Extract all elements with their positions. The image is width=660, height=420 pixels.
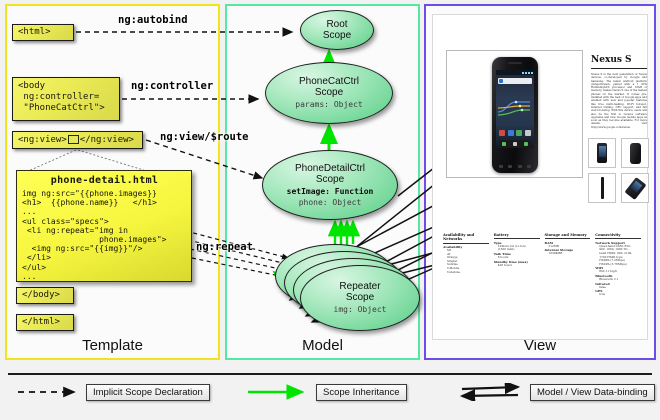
scope-catctrl-property: params: Object — [295, 100, 362, 110]
edge-label-view-route: ng:view/$route — [160, 131, 249, 143]
code-box-body-close[interactable]: </body> — [16, 287, 74, 304]
diagram-canvas: Template Model View — [0, 0, 660, 420]
scope-root-title-line2: Scope — [323, 30, 351, 41]
phone-thumbnail-4[interactable] — [621, 173, 649, 203]
scope-repeater-title-line1: Repeater — [339, 281, 380, 292]
scope-node-repeater[interactable]: Repeater Scope img: Object — [300, 265, 420, 331]
spec-column-availability: Availability and Networks Availability M… — [443, 233, 489, 297]
view-slot-icon — [68, 135, 79, 144]
scope-repeater-title-line2: Scope — [346, 292, 374, 303]
code-box-html-open[interactable]: <html> — [12, 24, 74, 41]
scope-detailctrl-property-phone: phone: Object — [299, 198, 362, 208]
legend-divider — [8, 373, 652, 375]
edge-label-repeat: ng:repeat — [196, 241, 253, 253]
scope-repeater-property: img: Object — [334, 305, 387, 315]
scope-node-phonedetailctrl[interactable]: PhoneDetailCtrl Scope setImage: Function… — [262, 150, 398, 220]
phone-hardware-buttons — [496, 163, 534, 169]
code-box-html-close[interactable]: </html> — [16, 314, 74, 331]
phone-screen — [496, 70, 534, 148]
note-code: img ng:src="{{phone.images}} <h1> {{phon… — [22, 189, 187, 281]
scope-detailctrl-property-setimage: setImage: Function — [287, 187, 374, 197]
phone-dock — [496, 128, 534, 148]
phone-hero-image-frame[interactable] — [446, 50, 583, 178]
phone-speaker-icon — [508, 62, 522, 64]
phone-search-widget — [498, 78, 532, 84]
column-model-label: Model — [227, 337, 418, 354]
edge-label-controller: ng:controller — [131, 80, 213, 92]
spec-val-availability-6: Vodafone — [443, 271, 489, 275]
phone-thumbnail-1[interactable] — [588, 138, 616, 168]
spec-val-storage-internal: 16384MB — [545, 252, 591, 256]
spec-column-connectivity: Connectivity Network Support Quad-band G… — [595, 233, 641, 297]
sticky-note-phone-detail[interactable]: phone-detail.html img ng:src="{{phone.im… — [16, 170, 192, 282]
ngview-close-tag: </ng:view> — [80, 135, 134, 145]
legend-label-implicit-scope: Implicit Scope Declaration — [86, 384, 210, 401]
thumbnail-phone-front — [597, 143, 607, 163]
product-title: Nexus S — [591, 55, 632, 65]
ngview-open-tag: <ng:view> — [18, 135, 67, 145]
legend-label-scope-inheritance: Scope Inheritance — [316, 384, 407, 401]
specs-table: Availability and Networks Availability M… — [443, 233, 641, 297]
spec-column-storage: Storage and Memory RAM 512MB Internal St… — [545, 233, 591, 297]
spec-column-battery: Battery Type Lithium Ion (Li-Ion) (1500 … — [494, 233, 540, 297]
double-arrow-icon — [460, 383, 524, 401]
note-title: phone-detail.html — [22, 175, 187, 186]
legend: Implicit Scope Declaration Scope Inherit… — [8, 383, 652, 409]
green-arrow-icon — [246, 383, 310, 401]
scope-node-phonecatctrl[interactable]: PhoneCatCtrl Scope params: Object — [265, 62, 393, 124]
phone-statusbar — [496, 70, 534, 75]
spec-header-storage: Storage and Memory — [545, 233, 591, 239]
thumbnail-phone-edge — [601, 177, 604, 199]
spec-header-battery: Battery — [494, 233, 540, 239]
thumbnail-phone-back — [630, 143, 641, 164]
phone-device-illustration — [492, 57, 538, 173]
phone-thumbnail-2[interactable] — [621, 138, 649, 168]
legend-label-data-binding: Model / View Data-binding — [530, 384, 655, 401]
legend-item-data-binding: Model / View Data-binding — [460, 383, 655, 401]
spec-val-gps: true — [595, 293, 641, 297]
phone-wallpaper-art — [496, 92, 534, 118]
scope-catctrl-title-line2: Scope — [315, 87, 343, 98]
product-description: Nexus S is the next generation of Nexus … — [591, 73, 647, 135]
scope-detailctrl-title-line2: Scope — [316, 174, 344, 185]
code-box-ngview[interactable]: <ng:view></ng:view> — [12, 131, 143, 149]
edge-label-autobind: ng:autobind — [118, 14, 188, 26]
dashed-arrow-icon — [16, 383, 80, 401]
spec-val-battery-standby: 428 hours — [494, 264, 540, 268]
column-template-label: Template — [7, 337, 218, 354]
rendered-view-page[interactable]: Nexus S Nexus S is the next generation o… — [432, 14, 648, 340]
spec-header-connectivity: Connectivity — [595, 233, 641, 239]
thumbnail-phone-angled — [624, 177, 646, 200]
legend-item-implicit-scope: Implicit Scope Declaration — [16, 383, 210, 401]
legend-item-scope-inheritance: Scope Inheritance — [246, 383, 407, 401]
product-title-rule — [591, 68, 647, 69]
scope-detailctrl-title-line1: PhoneDetailCtrl — [295, 163, 365, 174]
scope-root-title-line1: Root — [326, 19, 347, 30]
spec-header-availability: Availability and Networks — [443, 233, 489, 244]
phone-thumbnail-3[interactable] — [588, 173, 616, 203]
code-box-body-open[interactable]: <body ng:controller= "PhoneCatCtrl"> — [12, 77, 120, 121]
scope-catctrl-title-line1: PhoneCatCtrl — [299, 76, 359, 87]
scope-node-root[interactable]: Root Scope — [300, 10, 374, 50]
